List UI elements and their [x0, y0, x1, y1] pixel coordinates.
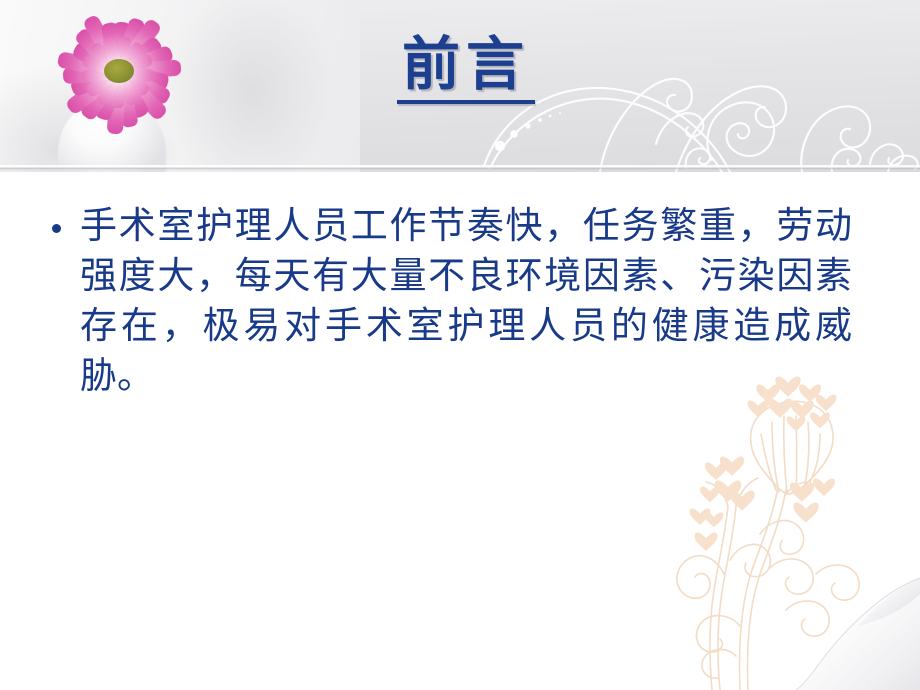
slide-header-band: 前言: [0, 0, 920, 172]
header-divider: [0, 165, 920, 172]
flower-center: [104, 59, 134, 83]
bullet-text: 手术室护理人员工作节奏快，任务繁重，劳动强度大，每天有大量不良环境因素、污染因素…: [80, 202, 852, 402]
page-title-wrapper: 前言: [386, 36, 546, 104]
page-title: 前言: [386, 36, 546, 94]
title-underline: [397, 100, 535, 104]
page-curl-icon: [790, 560, 920, 690]
slide-body: 手术室护理人员工作节奏快，任务繁重，劳动强度大，每天有大量不良环境因素、污染因素…: [0, 172, 920, 690]
pink-daisy-icon: [34, 12, 204, 132]
flower-photo: [14, 0, 224, 172]
corner-floral-ornament-icon: [620, 360, 920, 690]
slide: 前言 手术室护理人员工作节奏快，任务繁重，劳动强度大，每天有大量不良环境因素、污…: [0, 0, 920, 690]
bullet-point-icon: [52, 202, 80, 233]
list-item: 手术室护理人员工作节奏快，任务繁重，劳动强度大，每天有大量不良环境因素、污染因素…: [52, 202, 852, 402]
header-flourish-icon: [480, 48, 920, 172]
